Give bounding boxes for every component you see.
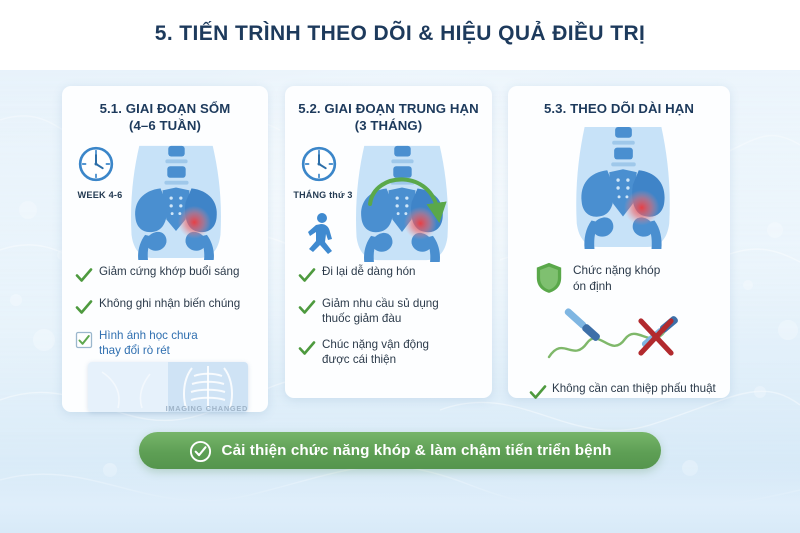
pelvis-anatomy-icon [561, 123, 685, 249]
list-item-label-line1: Chúc nặng vận động [322, 337, 429, 352]
list-item-label: Không ghi nhận biến chúng [99, 296, 240, 311]
card2-title-line1: 5.2. GIAI ĐOẠN TRUNG HẠN [293, 100, 484, 117]
card3-shield-row: Chức nặng khóp ón định [508, 249, 730, 295]
card-mid-stage[interactable]: 5.2. GIAI ĐOẠN TRUNG HẠN (3 THÁNG) THÁNG… [285, 86, 492, 398]
card3-title: 5.3. THEO DÕI DÀI HẠN [508, 86, 730, 117]
clock-icon [299, 144, 339, 184]
shield-icon [534, 261, 564, 295]
list-item-label: Chúc nặng vận động được cái thiện [322, 337, 429, 367]
card2-illustration: THÁNG thứ 3 [285, 134, 492, 260]
list-item: Không cần can thiệp phấu thuật [508, 367, 730, 402]
card1-title-line2: (4–6 TUẦN) [70, 117, 260, 134]
card1-bullet-list: Giảm cứng khớp buổi sáng Không ghi nhận … [62, 260, 268, 358]
list-item-label-line2: thuốc giảm đàu [322, 311, 439, 326]
list-item: Đi lại dễ dàng hón [297, 264, 482, 285]
clock-icon [76, 144, 116, 184]
card3-shield-label: Chức nặng khóp ón định [573, 262, 660, 294]
check-circle-icon [189, 440, 212, 463]
list-item-label: Đi lại dễ dàng hón [322, 264, 415, 279]
list-item: Chúc nặng vận động được cái thiện [297, 337, 482, 367]
list-item-label: Hình ánh học chưa thay đổi rò rét [99, 328, 198, 358]
card3-shield-label-line1: Chức nặng khóp [573, 262, 660, 278]
crossed-scalpel-icon [539, 305, 699, 367]
card3-illustration [508, 117, 730, 249]
summary-banner-label: Cải thiện chức năng khóp & làm chậm tiến… [222, 442, 612, 459]
list-item-label-line1: Hình ánh học chưa [99, 328, 198, 343]
card2-title: 5.2. GIAI ĐOẠN TRUNG HẠN (3 THÁNG) [285, 86, 492, 134]
card1-title: 5.1. GIAI ĐOẠN SỔM (4–6 TUẦN) [62, 86, 268, 134]
pelvis-anatomy-icon [341, 142, 463, 262]
imaging-thumbnail-label: IMAGING CHANGED [128, 404, 248, 413]
list-item-label: Không cần can thiệp phấu thuật [552, 381, 716, 396]
list-item-label-line1: Giảm nhu cầu sủ dụng [322, 296, 439, 311]
list-item: Giảm cứng khớp buổi sáng [74, 264, 258, 285]
list-item-label-line2: được cái thiện [322, 352, 429, 367]
list-item-label: Giảm nhu cầu sủ dụng thuốc giảm đàu [322, 296, 439, 326]
pelvis-anatomy-icon [118, 142, 234, 260]
check-icon [297, 265, 317, 285]
card-early-stage[interactable]: 5.1. GIAI ĐOẠN SỔM (4–6 TUẦN) WEEK 4-6 [62, 86, 268, 412]
list-item: Hình ánh học chưa thay đổi rò rét [74, 328, 258, 358]
infographic-root: 5. TIẾN TRÌNH THEO DÕI & HIỆU QUẢ ĐIỀU T… [0, 0, 800, 533]
summary-banner[interactable]: Cải thiện chức năng khóp & làm chậm tiến… [139, 432, 661, 469]
list-item: Giảm nhu cầu sủ dụng thuốc giảm đàu [297, 296, 482, 326]
checkbox-icon [74, 330, 94, 350]
check-icon [297, 297, 317, 317]
walking-person-icon [301, 212, 339, 256]
card3-title-line1: 5.3. THEO DÕI DÀI HẠN [516, 100, 722, 117]
list-item: Không ghi nhận biến chúng [74, 296, 258, 317]
card3-shield-label-line2: ón định [573, 278, 660, 294]
page-title: 5. TIẾN TRÌNH THEO DÕI & HIỆU QUẢ ĐIỀU T… [0, 22, 800, 46]
check-icon [74, 297, 94, 317]
check-icon [528, 382, 548, 402]
check-icon [297, 338, 317, 358]
card2-title-line2: (3 THÁNG) [293, 117, 484, 134]
card1-illustration: WEEK 4-6 [62, 134, 268, 260]
list-item-label-line2: thay đổi rò rét [99, 343, 198, 358]
bottom-fade [0, 463, 800, 533]
card1-title-line1: 5.1. GIAI ĐOẠN SỔM [70, 100, 260, 117]
card-long-term[interactable]: 5.3. THEO DÕI DÀI HẠN [508, 86, 730, 398]
list-item-label: Giảm cứng khớp buổi sáng [99, 264, 239, 279]
check-icon [74, 265, 94, 285]
card2-bullet-list: Đi lại dễ dàng hón Giảm nhu cầu sủ dụng … [285, 260, 492, 367]
